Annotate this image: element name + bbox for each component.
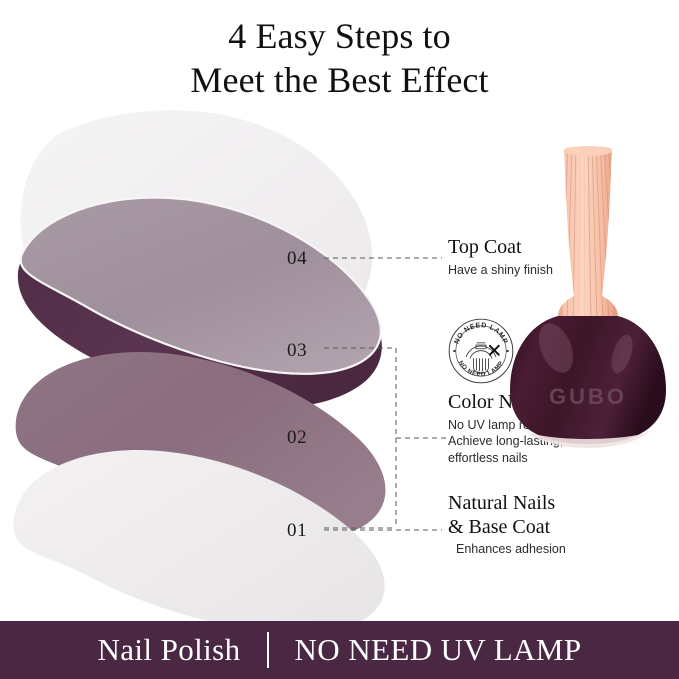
connector-line-step-01 bbox=[324, 528, 444, 532]
page-title: 4 Easy Steps to Meet the Best Effect bbox=[0, 14, 679, 103]
connector-bracket-steps-02-03 bbox=[324, 344, 448, 536]
step-number-03: 03 bbox=[287, 340, 307, 362]
banner-divider bbox=[267, 632, 269, 668]
label-natural-nails: Natural Nails & Base Coat Enhances adhes… bbox=[448, 492, 566, 558]
bottle-cap-top bbox=[564, 146, 612, 156]
page-title-line-1: 4 Easy Steps to bbox=[228, 16, 451, 56]
step-number-04: 04 bbox=[287, 248, 307, 270]
label-natural-nails-heading-line-2: & Base Coat bbox=[448, 516, 566, 540]
label-natural-nails-heading-line-1: Natural Nails bbox=[448, 492, 566, 516]
page-title-line-2: Meet the Best Effect bbox=[0, 58, 679, 102]
connector-line-step-04 bbox=[324, 256, 444, 260]
bottom-banner: Nail Polish NO NEED UV LAMP bbox=[0, 621, 679, 679]
infographic-artwork: 04 03 02 01 bbox=[0, 100, 679, 620]
step-number-01: 01 bbox=[287, 520, 307, 542]
banner-left-text: Nail Polish bbox=[97, 632, 240, 668]
banner-right-text: NO NEED UV LAMP bbox=[295, 632, 582, 668]
label-natural-nails-sub-1: Enhances adhesion bbox=[456, 541, 566, 558]
bottle-brand-text: GUBO bbox=[549, 384, 627, 409]
step-number-02: 02 bbox=[287, 427, 307, 449]
nail-polish-bottle: GUBO bbox=[498, 142, 678, 472]
bottle-glass bbox=[510, 316, 666, 444]
